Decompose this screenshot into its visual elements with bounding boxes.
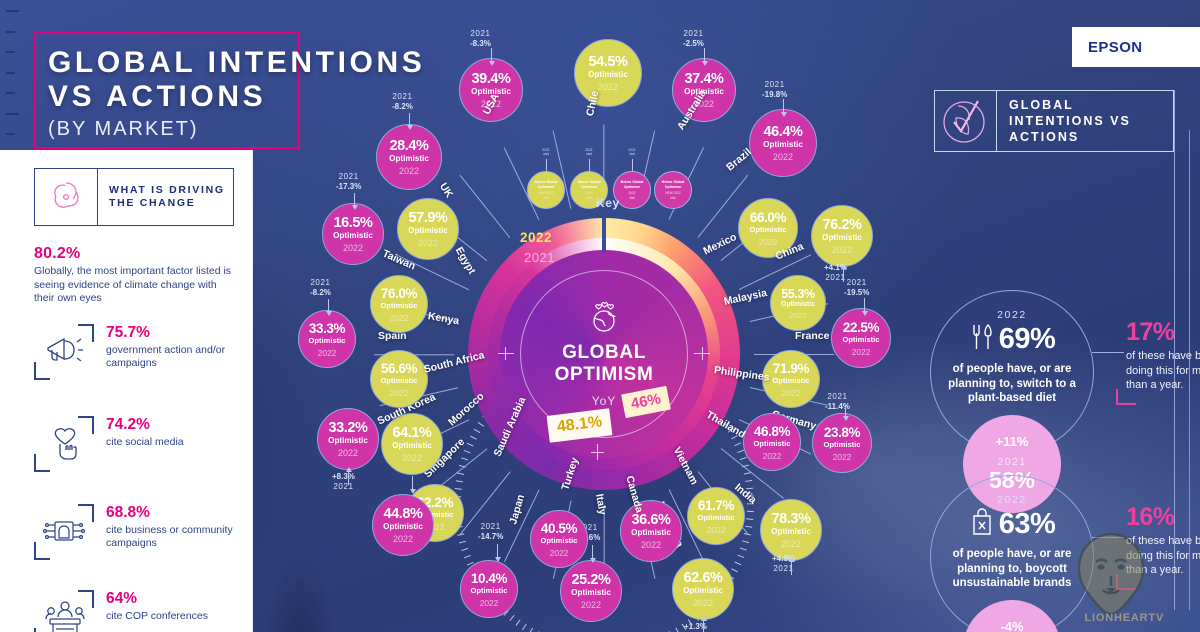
megaphone-icon bbox=[34, 324, 94, 380]
market-year: 2022 bbox=[480, 598, 499, 608]
market-bubble[interactable]: 76.0%Optimistic2022 bbox=[370, 275, 428, 333]
market-change-value: -2.5% bbox=[683, 39, 704, 48]
market-optimistic-label: Optimistic bbox=[389, 154, 429, 163]
market-change: 2021-2.5% bbox=[683, 29, 704, 49]
market-change-stalk bbox=[328, 299, 329, 312]
market-year: 2022 bbox=[390, 388, 409, 398]
market-bubble[interactable]: 55.3%Optimistic2022 bbox=[770, 275, 826, 331]
market-year: 2022 bbox=[832, 245, 852, 255]
key-title: Key bbox=[596, 196, 620, 210]
intention-description: of people have, or are planning to, swit… bbox=[932, 362, 1092, 406]
market-change-stalk bbox=[791, 561, 792, 575]
market-change-value: -14.7% bbox=[478, 532, 503, 541]
market-value: 62.6% bbox=[683, 570, 722, 586]
market-optimistic-label: Optimistic bbox=[822, 233, 862, 242]
intention-value: 69% bbox=[999, 323, 1056, 356]
key-stem bbox=[546, 159, 547, 171]
recycle-icon bbox=[35, 169, 98, 225]
key-label-line3: 2022 bbox=[585, 191, 592, 195]
market-change-year: 2021 bbox=[310, 278, 330, 287]
intention-delta: -4% bbox=[1000, 619, 1023, 632]
market-optimistic-label: Optimistic bbox=[333, 231, 373, 240]
market-change-stalk bbox=[491, 48, 492, 62]
market-optimistic-label: Optimistic bbox=[541, 536, 578, 545]
market-year: 2022 bbox=[852, 347, 871, 357]
market-change: +8.3%2021 bbox=[332, 472, 355, 492]
market-bubble[interactable]: 57.9%Optimistic2022 bbox=[397, 198, 459, 260]
market-bubble[interactable]: 76.2%Optimistic2022 bbox=[811, 205, 873, 267]
market-value: 23.8% bbox=[824, 425, 860, 440]
market-value: 76.2% bbox=[822, 217, 861, 233]
market-change-stalk bbox=[412, 476, 413, 490]
market-change-value: -8.2% bbox=[392, 102, 413, 111]
market-optimistic-label: Optimistic bbox=[754, 439, 791, 448]
market-change-value: -17.3% bbox=[336, 182, 361, 191]
market-change-stalk bbox=[497, 544, 498, 558]
dial-title-line2: OPTIMISM bbox=[555, 364, 654, 385]
driving-factor-label: cite business or community campaigns bbox=[106, 524, 251, 550]
market-bubble[interactable]: 28.4%Optimistic2022 bbox=[376, 124, 442, 190]
market-year: 2022 bbox=[759, 237, 778, 247]
driving-factor-pct: 64% bbox=[106, 590, 251, 608]
market-value: 36.6% bbox=[631, 512, 670, 528]
market-change-year: 2021 bbox=[827, 392, 847, 401]
market-year: 2022 bbox=[390, 313, 409, 323]
dial-legend-2022: 2022 bbox=[520, 230, 552, 245]
driving-factor: 74.2%cite social media bbox=[34, 410, 249, 494]
market-bubble[interactable]: 33.2%Optimistic2022 bbox=[317, 408, 379, 470]
globe-hearts-icon bbox=[587, 301, 621, 338]
key-item-above: 2021statAbove GlobalOptimismNEW 2022stat bbox=[527, 171, 565, 209]
market-year: 2022 bbox=[641, 540, 661, 550]
market-change-value: -8.3% bbox=[470, 39, 491, 48]
market-year: 2022 bbox=[318, 348, 337, 358]
market-change-year: 2021 bbox=[765, 80, 785, 89]
market-change-value: -19.8% bbox=[762, 90, 787, 99]
market-change-year: 2021 bbox=[481, 522, 501, 531]
dial-title-line1: GLOBAL bbox=[562, 342, 646, 363]
market-change-year: 2021 bbox=[847, 278, 867, 287]
market-optimistic-label: Optimistic bbox=[824, 440, 861, 449]
market-change-stalk bbox=[703, 620, 704, 632]
key-label-line4: stat bbox=[670, 196, 675, 200]
market-change: 2021-17.3% bbox=[336, 172, 361, 192]
market-bubble[interactable]: 16.5%Optimistic2022 bbox=[322, 203, 384, 265]
key-stem bbox=[632, 159, 633, 171]
market-year: 2022 bbox=[763, 451, 782, 461]
boycott-bag-icon bbox=[969, 507, 995, 542]
market-year: 2022 bbox=[418, 238, 438, 248]
market-value: 66.0% bbox=[750, 210, 786, 225]
market-value: 55.3% bbox=[781, 287, 814, 301]
market-year: 2022 bbox=[782, 388, 801, 398]
market-change-value: -8.2% bbox=[310, 288, 331, 297]
handshake-network-icon bbox=[34, 504, 94, 560]
key-label-line2: Optimism bbox=[665, 185, 682, 190]
market-optimistic-label: Optimistic bbox=[698, 513, 735, 522]
market-optimistic-label: Optimistic bbox=[750, 225, 787, 234]
market-change-year: 2021 bbox=[683, 29, 703, 38]
market-name: France bbox=[795, 330, 829, 342]
market-bubble[interactable]: 25.2%Optimistic2022 bbox=[560, 560, 622, 622]
what-is-driving-label: WHAT IS DRIVING THE CHANGE bbox=[98, 169, 233, 225]
market-value: 44.8% bbox=[383, 506, 422, 522]
market-value: 46.8% bbox=[754, 424, 790, 439]
market-optimistic-label: Optimistic bbox=[381, 376, 418, 385]
key-stem bbox=[589, 159, 590, 171]
heart-tap-icon bbox=[34, 416, 94, 472]
intention-value: 63% bbox=[999, 508, 1056, 541]
market-year: 2022 bbox=[581, 600, 601, 610]
driving-factor-label: cite social media bbox=[106, 436, 251, 449]
market-change: 2021-8.2% bbox=[310, 278, 331, 298]
dial-cross-right2 bbox=[702, 347, 703, 360]
market-year: 2022 bbox=[550, 548, 569, 558]
market-change: 2021-14.7% bbox=[478, 522, 503, 542]
leaf-check-icon bbox=[935, 91, 997, 151]
market-optimistic-label: Optimistic bbox=[328, 436, 368, 445]
global-optimism-dial: GLOBAL OPTIMISM YoY bbox=[468, 218, 740, 490]
market-year: 2022 bbox=[789, 311, 806, 320]
key-label-line3: NEW 2022 bbox=[665, 191, 680, 195]
market-optimistic-label: Optimistic bbox=[408, 226, 448, 235]
conference-icon bbox=[34, 590, 94, 632]
market-value: 33.2% bbox=[328, 420, 367, 436]
market-bubble[interactable]: 46.8%Optimistic2022 bbox=[743, 413, 801, 471]
key-label-line4: stat bbox=[586, 196, 591, 200]
market-value: 54.5% bbox=[588, 54, 627, 70]
market-change: 2021-19.8% bbox=[762, 80, 787, 100]
intention-side-stat: 17%of these have been doing this for mor… bbox=[1126, 318, 1200, 393]
key-label-line3: 2022 bbox=[628, 191, 635, 195]
market-value: 61.7% bbox=[698, 498, 734, 513]
market-bubble[interactable]: 40.5%Optimistic2022 bbox=[530, 510, 588, 568]
infographic-canvas: GLOBAL INTENTIONS VS ACTIONS (BY MARKET)… bbox=[0, 0, 1200, 632]
market-bubble[interactable]: 61.7%Optimistic2022 bbox=[687, 487, 745, 545]
market-bubble[interactable]: 10.4%Optimistic2022 bbox=[460, 560, 518, 618]
market-optimistic-label: Optimistic bbox=[309, 336, 346, 345]
market-bubble[interactable]: 78.3%Optimistic2022 bbox=[760, 499, 822, 561]
market-change-stalk bbox=[409, 113, 410, 126]
market-change-year: 2021 bbox=[470, 29, 490, 38]
market-change-stalk bbox=[348, 471, 349, 485]
market-optimistic-label: Optimistic bbox=[631, 528, 671, 537]
epson-logo: EPSON bbox=[1072, 27, 1200, 67]
dial-legend-2021: 2021 bbox=[524, 250, 555, 265]
key-label-line4: stat bbox=[543, 196, 548, 200]
market-value: 39.4% bbox=[471, 71, 510, 87]
intention-year: 2022 bbox=[997, 494, 1027, 506]
market-value: 22.5% bbox=[843, 320, 879, 335]
market-change-stalk bbox=[783, 99, 784, 113]
watermark-text: LIONHEARTV bbox=[1085, 612, 1165, 624]
key-stem-label: 2021stat bbox=[628, 148, 636, 157]
dial-title: GLOBAL OPTIMISM bbox=[555, 342, 654, 386]
key-stem-label: 2021stat bbox=[585, 148, 593, 157]
market-value: 46.4% bbox=[763, 124, 802, 140]
market-year: 2022 bbox=[833, 452, 852, 462]
what-is-driving-header: WHAT IS DRIVING THE CHANGE bbox=[34, 168, 234, 226]
headline-line1: GLOBAL INTENTIONS bbox=[48, 46, 425, 79]
key-item-below: Below GlobalOptimismNEW 2022stat bbox=[654, 171, 692, 209]
market-bubble[interactable]: 33.3%Optimistic2022 bbox=[298, 310, 356, 368]
market-bubble[interactable]: 22.5%Optimistic2022 bbox=[831, 308, 891, 368]
driving-factor: 64%cite COP conferences bbox=[34, 584, 249, 632]
market-optimistic-label: Optimistic bbox=[392, 441, 432, 450]
market-optimistic-label: Optimistic bbox=[773, 376, 810, 385]
market-change: 2021-8.2% bbox=[392, 92, 413, 112]
market-value: 71.9% bbox=[773, 361, 809, 376]
market-bubble[interactable]: 56.6%Optimistic2022 bbox=[370, 350, 428, 408]
market-year: 2022 bbox=[707, 525, 726, 535]
lead-stat-pct: 80.2% bbox=[34, 245, 234, 263]
market-year: 2022 bbox=[781, 539, 801, 549]
epson-logo-text: EPSON bbox=[1088, 39, 1143, 56]
market-bubble[interactable]: 46.4%Optimistic2022 bbox=[749, 109, 817, 177]
market-optimistic-label: Optimistic bbox=[763, 140, 803, 149]
market-bubble[interactable]: 71.9%Optimistic2022 bbox=[762, 350, 820, 408]
market-optimistic-label: Optimistic bbox=[843, 335, 880, 344]
dial-start-gap bbox=[602, 218, 606, 252]
key-label-line2: Optimism bbox=[581, 185, 598, 190]
right-panel-header: GLOBAL INTENTIONS VS ACTIONS bbox=[934, 90, 1174, 152]
driving-factor-pct: 68.8% bbox=[106, 504, 251, 522]
market-optimistic-label: Optimistic bbox=[588, 70, 628, 79]
market-change-value: +8.3% bbox=[332, 472, 355, 481]
lion-head-icon bbox=[1062, 526, 1160, 622]
side-stat-pct: 17% bbox=[1126, 318, 1200, 347]
market-value: 78.3% bbox=[771, 511, 810, 527]
side-bracket-bottom bbox=[1116, 403, 1136, 405]
cutlery-plant-icon bbox=[969, 322, 995, 357]
market-value: 16.5% bbox=[333, 215, 372, 231]
market-bubble[interactable]: 54.5%Optimistic2022 bbox=[574, 39, 642, 107]
market-value: 10.4% bbox=[471, 571, 507, 586]
side-stat-caption: of these have been doing this for more t… bbox=[1126, 349, 1200, 393]
driving-factor-pct: 74.2% bbox=[106, 416, 251, 434]
key-label-line2: Optimism bbox=[538, 185, 555, 190]
market-optimistic-label: Optimistic bbox=[571, 588, 611, 597]
key-stem-label: 2021stat bbox=[542, 148, 550, 157]
market-value: 57.9% bbox=[408, 210, 447, 226]
dial-cross-bottom2 bbox=[591, 452, 604, 453]
intention-connector bbox=[1092, 352, 1124, 353]
market-bubble[interactable]: 36.6%Optimistic2022 bbox=[620, 500, 682, 562]
driving-factor-label: cite COP conferences bbox=[106, 610, 251, 623]
page-title: GLOBAL INTENTIONS VS ACTIONS (BY MARKET) bbox=[48, 46, 428, 141]
intention-year: 2022 bbox=[997, 309, 1027, 321]
market-optimistic-label: Optimistic bbox=[683, 586, 723, 595]
market-value: 64.1% bbox=[392, 425, 431, 441]
market-value: 25.2% bbox=[571, 572, 610, 588]
market-value: 56.6% bbox=[381, 361, 417, 376]
market-bubble[interactable]: 23.8%Optimistic2022 bbox=[812, 413, 872, 473]
key-label-line2: Optimism bbox=[624, 185, 641, 190]
market-value: 33.3% bbox=[309, 321, 345, 336]
market-change-stalk bbox=[864, 298, 865, 312]
market-year: 2022 bbox=[399, 166, 419, 176]
market-change: 2021-19.5% bbox=[844, 278, 869, 298]
market-change-year: 2021 bbox=[392, 92, 412, 101]
market-value: 28.4% bbox=[389, 138, 428, 154]
market-year: 2022 bbox=[402, 453, 422, 463]
market-optimistic-label: Optimistic bbox=[781, 301, 815, 308]
market-value: 40.5% bbox=[541, 521, 577, 536]
market-year: 2022 bbox=[693, 598, 713, 608]
driving-factor: 68.8%cite business or community campaign… bbox=[34, 498, 249, 582]
driving-factor-label: government action and/or campaigns bbox=[106, 344, 251, 370]
dial-cross-left2 bbox=[505, 347, 506, 360]
market-year: 2022 bbox=[343, 243, 363, 253]
lead-stat: 80.2% Globally, the most important facto… bbox=[34, 245, 234, 306]
key-label-line4: stat bbox=[629, 196, 634, 200]
market-optimistic-label: Optimistic bbox=[383, 522, 423, 531]
market-change: 2021-8.3% bbox=[470, 29, 491, 49]
market-optimistic-label: Optimistic bbox=[381, 301, 418, 310]
headline-line2: VS ACTIONS bbox=[48, 80, 266, 113]
market-change-stalk bbox=[592, 545, 593, 559]
lead-stat-caption: Globally, the most important factor list… bbox=[34, 265, 234, 306]
market-bubble[interactable]: 44.8%Optimistic2022 bbox=[372, 494, 434, 556]
market-value: 76.0% bbox=[381, 286, 417, 301]
market-year: 2022 bbox=[773, 152, 793, 162]
market-change-year: 2021 bbox=[333, 482, 353, 491]
key-label-line3: NEW 2022 bbox=[538, 191, 553, 195]
driving-factor: 75.7%government action and/or campaigns bbox=[34, 318, 249, 402]
intention-delta: +11% bbox=[996, 434, 1029, 449]
market-change-value: -19.5% bbox=[844, 288, 869, 297]
market-year: 2022 bbox=[338, 448, 358, 458]
driving-factor-pct: 75.7% bbox=[106, 324, 251, 342]
market-optimistic-label: Optimistic bbox=[471, 586, 508, 595]
market-change-stalk bbox=[354, 193, 355, 206]
right-panel-title: GLOBAL INTENTIONS VS ACTIONS bbox=[997, 91, 1173, 151]
market-value: 37.4% bbox=[684, 71, 723, 87]
market-change-stalk bbox=[704, 48, 705, 62]
dial-yoy-label: YoY bbox=[592, 394, 617, 408]
market-year: 2022 bbox=[393, 534, 413, 544]
market-change-year: 2021 bbox=[339, 172, 359, 181]
market-bubble[interactable]: 62.6%Optimistic2022 bbox=[672, 558, 734, 620]
market-year: 2022 bbox=[598, 82, 618, 92]
market-optimistic-label: Optimistic bbox=[771, 527, 811, 536]
market-change-stalk bbox=[845, 405, 846, 417]
headline-subtitle: (BY MARKET) bbox=[48, 118, 428, 141]
